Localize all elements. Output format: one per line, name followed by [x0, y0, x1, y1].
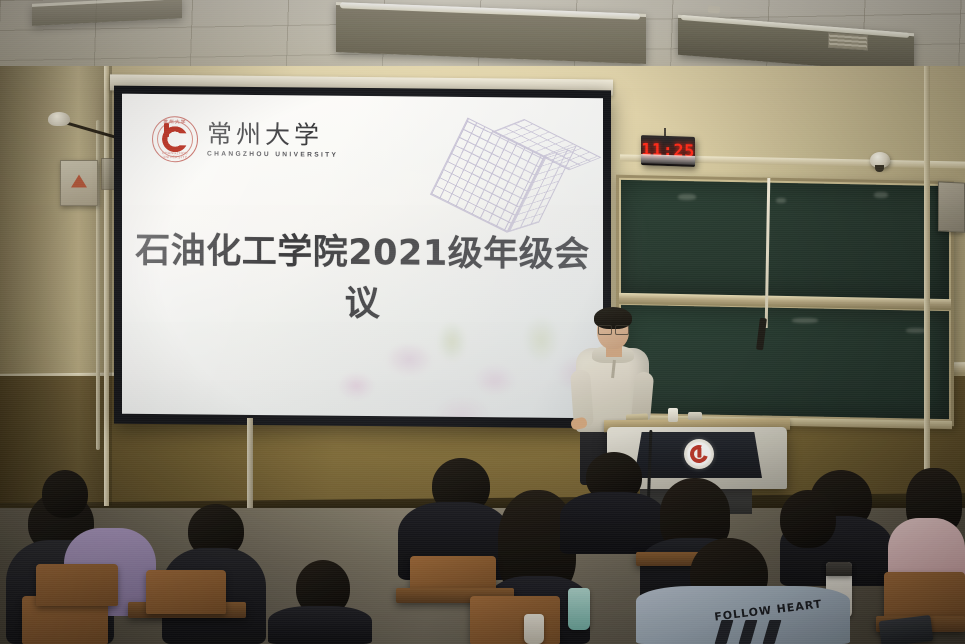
ceiling-sensor-icon: [708, 5, 721, 13]
podium-equipment: [668, 408, 678, 422]
classroom-chair: [146, 570, 226, 614]
classroom-chair: [36, 564, 118, 606]
student-hair: [780, 490, 836, 548]
blackboard: [616, 178, 954, 423]
student-torso: [268, 606, 372, 644]
door-jamb: [924, 66, 930, 506]
university-name-en: CHANGZHOU UNIVERSITY: [207, 151, 338, 159]
ceiling-vent-icon: [828, 33, 868, 51]
slide-university-logo: 常州大学 CHANGZHOU UNIVERSITY 常州大学 CHANGZHOU…: [152, 116, 338, 164]
changzhou-university-c-logo-icon: [684, 439, 714, 469]
seal-c-bar: [164, 123, 169, 137]
glasses-icon: [598, 325, 629, 333]
seal-top-text: 常州大学: [153, 119, 197, 125]
blackboard-lower-panel: [621, 305, 949, 419]
university-name-cn: 常州大学: [207, 121, 338, 149]
smartphone: [879, 615, 934, 644]
led-wall-clock: 11:25: [641, 135, 695, 167]
chalk-smudge: [792, 318, 818, 323]
student-torso: [560, 492, 666, 554]
projector-screen-support-pole: [247, 418, 253, 508]
electrical-junction-box-icon: [60, 160, 98, 206]
wall-speaker-icon: [938, 181, 965, 232]
chalk-smudge: [906, 328, 926, 333]
podium-logo-c-glyph: [687, 442, 711, 466]
classroom-photo-scene: 常州大学 CHANGZHOU UNIVERSITY 常州大学 CHANGZHOU…: [0, 0, 965, 644]
changzhou-university-seal-icon: 常州大学 CHANGZHOU UNIVERSITY: [152, 116, 198, 162]
projector-screen-surface: 常州大学 CHANGZHOU UNIVERSITY 常州大学 CHANGZHOU…: [122, 94, 603, 419]
classroom-chair: [470, 596, 560, 644]
clock-glare: [641, 154, 695, 165]
watercolor-floral-splash-icon: [297, 295, 603, 418]
podium-equipment: [688, 412, 702, 420]
wall-sensor-icon: [48, 112, 70, 126]
student-hair: [42, 470, 88, 518]
chalk-smudge: [776, 198, 786, 203]
chalk-smudge: [678, 194, 696, 200]
warning-triangle-icon: [71, 175, 87, 188]
small-bottle: [524, 614, 544, 644]
water-bottle-teal: [568, 588, 590, 630]
chalk-smudge: [874, 192, 888, 198]
dome-camera-icon: [870, 152, 890, 168]
thermos-white-cap: [826, 562, 852, 576]
